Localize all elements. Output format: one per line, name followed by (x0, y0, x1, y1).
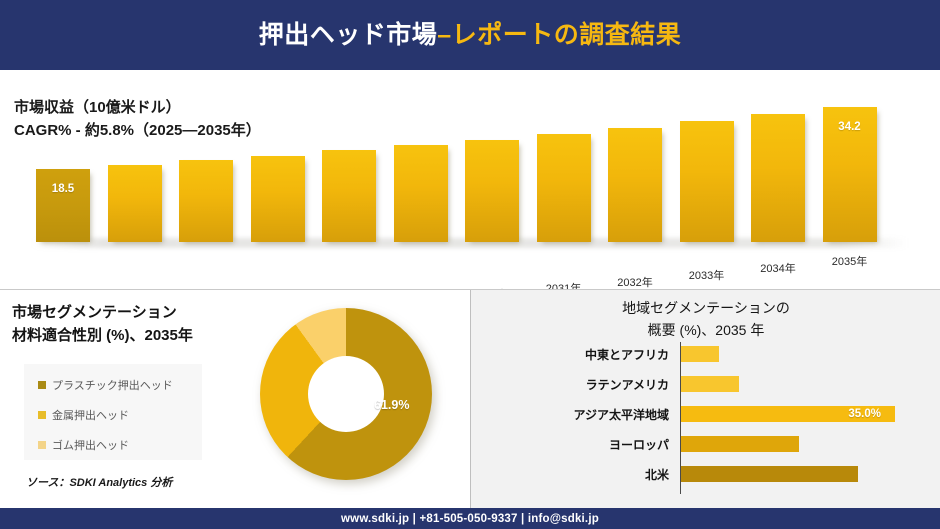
regional-bar (681, 376, 739, 392)
regional-bar-row: アジア太平洋地域35.0% (471, 400, 940, 430)
bar-column: 2029年 (394, 145, 448, 242)
regional-bar-row: 北米 (471, 460, 940, 490)
regional-category-label: 中東とアフリカ (585, 346, 669, 363)
segmentation-title-line2: 材料適合性別 (%)、2035年 (12, 325, 262, 348)
material-segmentation-panel: 市場セグメンテーション 材料適合性別 (%)、2035年 プラスチック押出ヘッド… (0, 290, 470, 508)
revenue-bar (608, 128, 662, 242)
revenue-bar (751, 114, 805, 242)
bar-column: 2032年 (608, 128, 662, 242)
bar-column: 2026年 (179, 160, 233, 242)
legend-item[interactable]: 金属押出ヘッド (38, 407, 129, 423)
revenue-bar (394, 145, 448, 242)
legend-swatch-icon (38, 411, 46, 419)
regional-bar-row: ラテンアメリカ (471, 370, 940, 400)
bar-column: 2033年 (680, 121, 734, 242)
revenue-bar (108, 165, 162, 242)
bar-category-label: 2034年 (745, 260, 811, 276)
regional-bar (681, 466, 858, 482)
revenue-bar (251, 156, 305, 242)
bar-category-label: 2032年 (602, 274, 668, 290)
segmentation-title: 市場セグメンテーション 材料適合性別 (%)、2035年 (12, 302, 262, 347)
bar-value-label: 34.2 (823, 121, 877, 133)
legend-item-label: ゴム押出ヘッド (52, 437, 129, 453)
regional-category-label: ラテンアメリカ (586, 376, 669, 393)
regional-bar: 35.0% (681, 406, 895, 422)
donut-chart: 61.9% (248, 304, 448, 494)
header-banner: 押出ヘッド市場–レポートの調査結果 (0, 0, 940, 70)
bar-column: 2031年 (537, 134, 591, 242)
bar-column: 34.22035年 (823, 107, 877, 242)
bar-column: 2028年 (322, 150, 376, 242)
legend-item[interactable]: ゴム押出ヘッド (38, 437, 129, 453)
segmentation-title-line1: 市場セグメンテーション (12, 302, 262, 325)
regional-segmentation-panel: 地域セグメンテーションの 概要 (%)、2035 年 中東とアフリカラテンアメリ… (470, 290, 940, 508)
infographic-page: 押出ヘッド市場–レポートの調査結果 市場収益（10億米ドル） CAGR% - 約… (0, 0, 940, 529)
bar-column: 2025年 (108, 165, 162, 242)
regional-title-line2: 概要 (%)、2035 年 (471, 320, 940, 342)
donut-legend: プラスチック押出ヘッド金属押出ヘッドゴム押出ヘッド (24, 364, 202, 460)
page-title-primary: 押出ヘッド市場 (259, 21, 438, 49)
bar-category-label: 2035年 (817, 253, 883, 269)
revenue-bar (680, 121, 734, 242)
regional-bar (681, 346, 719, 362)
regional-bar-row: 中東とアフリカ (471, 340, 940, 370)
legend-swatch-icon (38, 441, 46, 449)
regional-bar (681, 436, 799, 452)
page-title: 押出ヘッド市場–レポートの調査結果 (259, 23, 681, 48)
donut-value-label: 61.9% (374, 398, 409, 412)
revenue-bars-area: 18.52024年2025年2026年2027年2028年2029年2030年2… (32, 100, 922, 242)
revenue-bar-chart-panel: 市場収益（10億米ドル） CAGR% - 約5.8%（2025―2035年） 1… (0, 70, 940, 289)
regional-category-label: ヨーロッパ (609, 436, 669, 453)
regional-category-label: アジア太平洋地域 (573, 406, 669, 423)
bar-column: 2027年 (251, 156, 305, 242)
footer-bar: www.sdki.jp | +81-505-050-9337 | info@sd… (0, 508, 940, 529)
revenue-bar (537, 134, 591, 242)
bar-category-label: 2033年 (674, 267, 740, 283)
revenue-bar: 34.2 (823, 107, 877, 242)
revenue-bar (179, 160, 233, 242)
regional-bars-area: 中東とアフリカラテンアメリカアジア太平洋地域35.0%ヨーロッパ北米 (471, 340, 940, 500)
regional-value-label: 35.0% (848, 406, 881, 422)
revenue-bar (465, 140, 519, 242)
legend-item-label: 金属押出ヘッド (52, 407, 129, 423)
page-title-secondary: レポートの調査結果 (452, 21, 682, 49)
regional-title: 地域セグメンテーションの 概要 (%)、2035 年 (471, 298, 940, 341)
footer-contact: www.sdki.jp | +81-505-050-9337 | info@sd… (341, 513, 599, 525)
regional-title-line1: 地域セグメンテーションの (471, 298, 940, 320)
revenue-bar: 18.5 (36, 169, 90, 242)
donut-ring (260, 308, 432, 480)
bar-column: 18.52024年 (36, 169, 90, 242)
bar-value-label: 18.5 (36, 183, 90, 195)
regional-category-label: 北米 (645, 466, 669, 483)
bar-column: 2030年 (465, 140, 519, 242)
bar-column: 2034年 (751, 114, 805, 242)
legend-item-label: プラスチック押出ヘッド (52, 377, 173, 393)
source-note: ソース：SDKI Analytics 分析 (26, 474, 172, 490)
page-title-dash: – (437, 21, 451, 49)
revenue-bar (322, 150, 376, 242)
legend-swatch-icon (38, 381, 46, 389)
regional-bar-row: ヨーロッパ (471, 430, 940, 460)
legend-item[interactable]: プラスチック押出ヘッド (38, 377, 173, 393)
